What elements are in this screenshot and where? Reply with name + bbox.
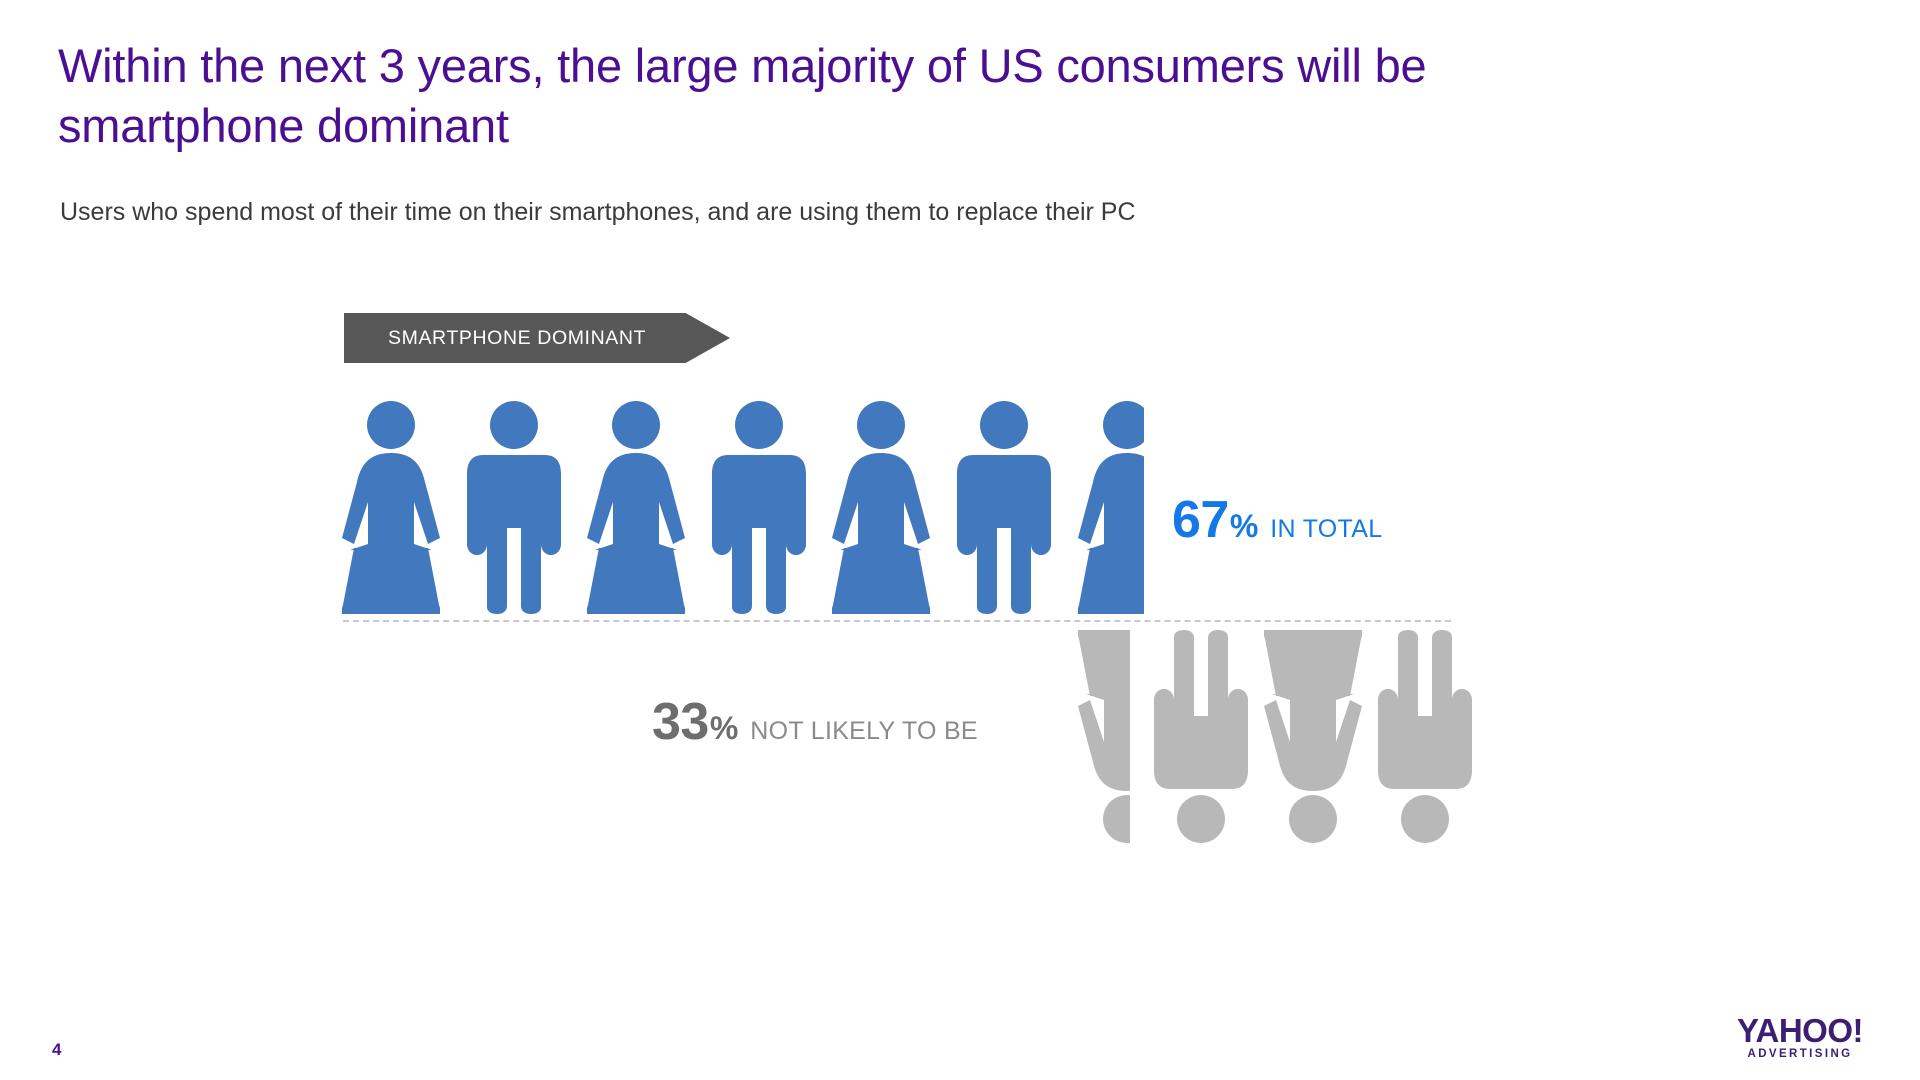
stat-secondary-value: 33 [652,692,709,752]
slide-canvas: Within the next 3 years, the large major… [0,0,1920,1080]
page-subtitle: Users who spend most of their time on th… [60,196,1660,228]
pictogram-divider [343,620,1451,622]
male-person-icon [953,398,1055,614]
banner-label: SMARTPHONE DOMINANT [388,313,646,363]
stat-primary-percent-sign: % [1230,508,1258,545]
page-number: 4 [52,1040,61,1060]
yahoo-wordmark: YAHOO! [1732,1014,1868,1048]
stat-secondary-caption: NOT LIKELY TO BE [750,717,978,746]
female-person-icon-partial [1076,398,1144,614]
smartphone-dominant-banner: SMARTPHONE DOMINANT [344,313,730,363]
male-person-icon-inverted [1150,630,1252,846]
female-person-icon [585,398,687,614]
stat-primary-value: 67 [1172,490,1229,550]
female-person-icon-inverted [1262,630,1364,846]
male-person-icon [463,398,565,614]
yahoo-advertising-logo: YAHOO! ADVERTISING [1732,1014,1868,1061]
page-title: Within the next 3 years, the large major… [58,36,1668,156]
female-person-icon-partial-inverted [1076,630,1130,846]
female-person-icon [830,398,932,614]
male-person-icon [708,398,810,614]
female-person-icon [340,398,442,614]
stat-smartphone-dominant: 67 % IN TOTAL [1172,490,1382,550]
stat-primary-caption: IN TOTAL [1270,515,1382,544]
stat-secondary-percent-sign: % [710,710,738,747]
stat-not-likely: 33 % NOT LIKELY TO BE [652,692,978,752]
yahoo-tagline: ADVERTISING [1732,1047,1868,1061]
male-person-icon-inverted [1374,630,1476,846]
